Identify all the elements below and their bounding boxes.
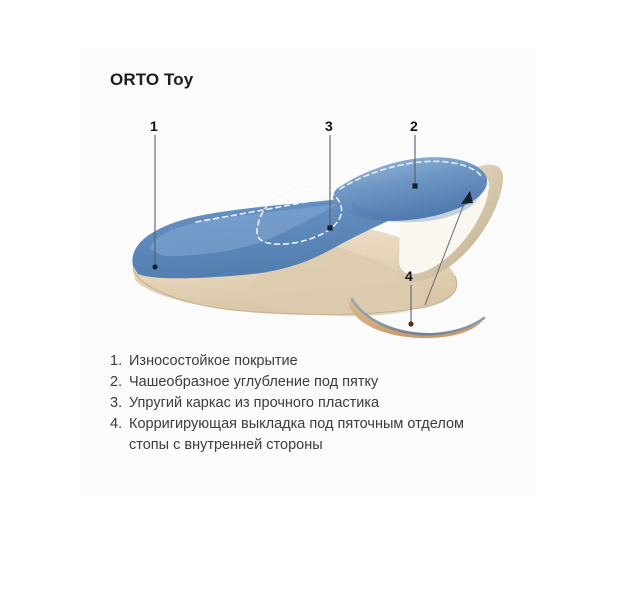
legend-item-2: 2. Чашеобразное углубление под пятку xyxy=(110,372,530,393)
callout-number-4: 4 xyxy=(405,269,413,283)
callout-dot-4 xyxy=(408,321,413,326)
insole-diagram xyxy=(0,0,632,603)
legend-item-3: 3. Упругий каркас из прочного пластика xyxy=(110,393,530,414)
legend-item-1: 1. Износостойкое покрытие xyxy=(110,351,530,372)
callout-number-1: 1 xyxy=(150,119,158,133)
callout-dot-2 xyxy=(412,183,417,188)
legend-marker-4: 4. xyxy=(110,414,129,456)
callout-dot-1 xyxy=(152,264,157,269)
product-illustration-page: ORTO Toy xyxy=(0,0,632,603)
legend-label-1: Износостойкое покрытие xyxy=(129,351,298,372)
callout-number-2: 2 xyxy=(410,119,418,133)
callout-number-3: 3 xyxy=(325,119,333,133)
callout-dot-3 xyxy=(327,225,332,230)
legend-label-4-line2: стопы с внутренней стороны xyxy=(129,435,464,456)
legend-marker-1: 1. xyxy=(110,351,129,372)
legend-label-3: Упругий каркас из прочного пластика xyxy=(129,393,379,414)
legend-label-4-line1: Корригирующая выкладка под пяточным отде… xyxy=(129,416,464,432)
legend-item-4: 4. Корригирующая выкладка под пяточным о… xyxy=(110,414,530,456)
legend-marker-3: 3. xyxy=(110,393,129,414)
legend-label-2: Чашеобразное углубление под пятку xyxy=(129,372,378,393)
legend-list: 1. Износостойкое покрытие 2. Чашеобразно… xyxy=(110,351,530,456)
legend-marker-2: 2. xyxy=(110,372,129,393)
legend-label-4: Корригирующая выкладка под пяточным отде… xyxy=(129,414,464,456)
